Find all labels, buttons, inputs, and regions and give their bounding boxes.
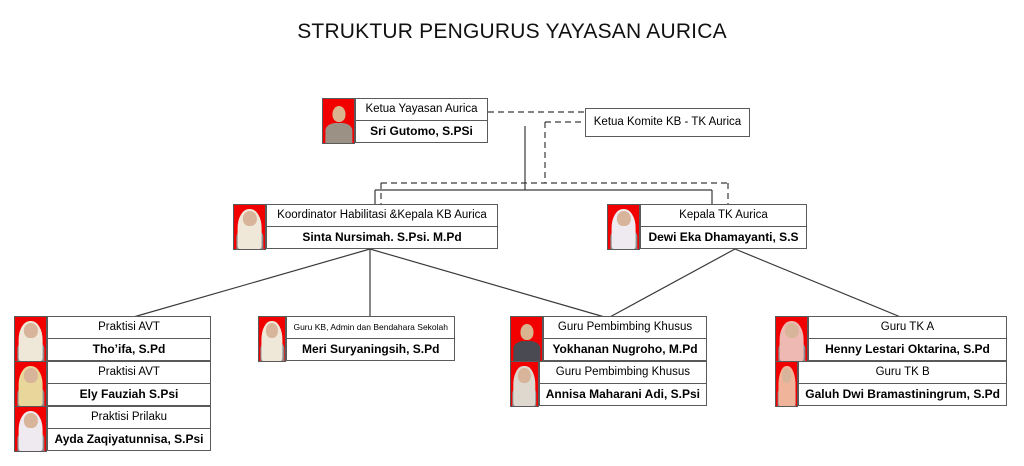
portrait-photo-annisa-maharani-adi (510, 361, 539, 407)
entry-role: Guru KB, Admin dan Bendahara Sekolah (286, 316, 455, 339)
text-column: Ketua Yayasan Aurica Sri Gutomo, S.PSi (355, 98, 488, 144)
list-item[interactable]: Praktisi AVT Tho’ifa, S.Pd (14, 316, 211, 362)
entry-role: Guru TK A (808, 316, 1007, 339)
text-column: Kepala TK Aurica Dewi Eka Dhamayanti, S.… (640, 204, 807, 250)
list-item[interactable]: Guru Pembimbing Khusus Annisa Maharani A… (510, 361, 707, 407)
entry-role: Praktisi Prilaku (47, 406, 211, 429)
node-role: Koordinator Habilitasi &Kepala KB Aurica (266, 204, 498, 227)
portrait-photo-henny-lestari-oktarina (775, 316, 808, 362)
node-name: Sinta Nursimah. S.Psi. M.Pd (266, 226, 498, 249)
page-title: STRUKTUR PENGURUS YAYASAN AURICA (0, 20, 1024, 44)
node-role: Ketua Komite KB - TK Aurica (585, 108, 750, 137)
portrait-photo-sri-gutomo (322, 98, 355, 144)
portrait-photo-yokhanan-nugroho (510, 316, 543, 362)
photo-column (233, 204, 266, 250)
entry-role: Praktisi AVT (47, 316, 211, 339)
connector-coordinator-to-guru-pembimbing (370, 249, 608, 318)
text-column: Guru Pembimbing Khusus Annisa Maharani A… (539, 361, 707, 407)
photo-column (607, 204, 640, 250)
list-item[interactable]: Praktisi AVT Ely Fauziah S.Psi (14, 361, 211, 407)
entry-name: Ayda Zaqiyatunnisa, S.Psi (47, 428, 211, 451)
portrait-photo-ely-fauziah (14, 361, 47, 407)
list-item[interactable]: Praktisi Prilaku Ayda Zaqiyatunnisa, S.P… (14, 406, 211, 452)
portrait-photo-galuh-dwi-bramastiningrum (775, 361, 798, 407)
portrait-photo-sinta-nursimah (233, 204, 266, 250)
entry-name: Yokhanan Nugroho, M.Pd (543, 338, 707, 361)
entry-name: Galuh Dwi Bramastiningrum, S.Pd (798, 383, 1007, 406)
node-chairman[interactable]: Ketua Yayasan Aurica Sri Gutomo, S.PSi (322, 98, 488, 144)
entry-role: Praktisi AVT (47, 361, 211, 384)
list-item[interactable]: Guru KB, Admin dan Bendahara Sekolah Mer… (258, 316, 455, 362)
node-role: Kepala TK Aurica (640, 204, 807, 227)
entry-name: Meri Suryaningsih, S.Pd (286, 338, 455, 361)
entry-name: Annisa Maharani Adi, S.Psi (539, 383, 707, 406)
text-column: Praktisi Prilaku Ayda Zaqiyatunnisa, S.P… (47, 406, 211, 452)
list-item[interactable]: Guru TK A Henny Lestari Oktarina, S.Pd (775, 316, 1007, 362)
text-column: Praktisi AVT Tho’ifa, S.Pd (47, 316, 211, 362)
node-name: Sri Gutomo, S.PSi (355, 120, 488, 143)
text-column: Guru Pembimbing Khusus Yokhanan Nugroho,… (543, 316, 707, 362)
entry-role: Guru Pembimbing Khusus (543, 316, 707, 339)
portrait-photo-meri-suryaningsih (258, 316, 286, 362)
entry-name: Ely Fauziah S.Psi (47, 383, 211, 406)
node-principal-tk[interactable]: Kepala TK Aurica Dewi Eka Dhamayanti, S.… (607, 204, 807, 250)
group-praktisi[interactable]: Praktisi AVT Tho’ifa, S.Pd Praktisi AVT … (14, 316, 211, 454)
portrait-photo-dewi-eka-dhamayanti (607, 204, 640, 250)
node-committee[interactable]: Ketua Komite KB - TK Aurica (585, 108, 750, 137)
text-column: Ketua Komite KB - TK Aurica (585, 108, 750, 137)
node-name: Dewi Eka Dhamayanti, S.S (640, 226, 807, 249)
list-item[interactable]: Guru Pembimbing Khusus Yokhanan Nugroho,… (510, 316, 707, 362)
portrait-photo-ayda-zaqiyatunnisa (14, 406, 47, 452)
connector-principal-to-guru-tk (735, 249, 903, 318)
portrait-photo-thoifa (14, 316, 47, 362)
text-column: Guru TK A Henny Lestari Oktarina, S.Pd (808, 316, 1007, 362)
text-column: Koordinator Habilitasi &Kepala KB Aurica… (266, 204, 498, 250)
group-guru-tk[interactable]: Guru TK A Henny Lestari Oktarina, S.Pd G… (775, 316, 1007, 408)
entry-role: Guru Pembimbing Khusus (539, 361, 707, 384)
list-item[interactable]: Guru TK B Galuh Dwi Bramastiningrum, S.P… (775, 361, 1007, 407)
node-role: Ketua Yayasan Aurica (355, 98, 488, 121)
group-guru-pembimbing[interactable]: Guru Pembimbing Khusus Yokhanan Nugroho,… (510, 316, 707, 408)
text-column: Praktisi AVT Ely Fauziah S.Psi (47, 361, 211, 407)
connector-coordinator-to-praktisi (130, 249, 370, 318)
entry-name: Tho’ifa, S.Pd (47, 338, 211, 361)
node-coordinator[interactable]: Koordinator Habilitasi &Kepala KB Aurica… (233, 204, 498, 250)
org-chart-root: STRUKTUR PENGURUS YAYASAN AURICA (0, 0, 1024, 466)
connector-principal-to-guru-pembimbing (608, 249, 735, 318)
entry-name: Henny Lestari Oktarina, S.Pd (808, 338, 1007, 361)
group-guru-kb[interactable]: Guru KB, Admin dan Bendahara Sekolah Mer… (258, 316, 455, 362)
photo-column (322, 98, 355, 144)
text-column: Guru KB, Admin dan Bendahara Sekolah Mer… (286, 316, 455, 362)
text-column: Guru TK B Galuh Dwi Bramastiningrum, S.P… (798, 361, 1007, 407)
entry-role: Guru TK B (798, 361, 1007, 384)
